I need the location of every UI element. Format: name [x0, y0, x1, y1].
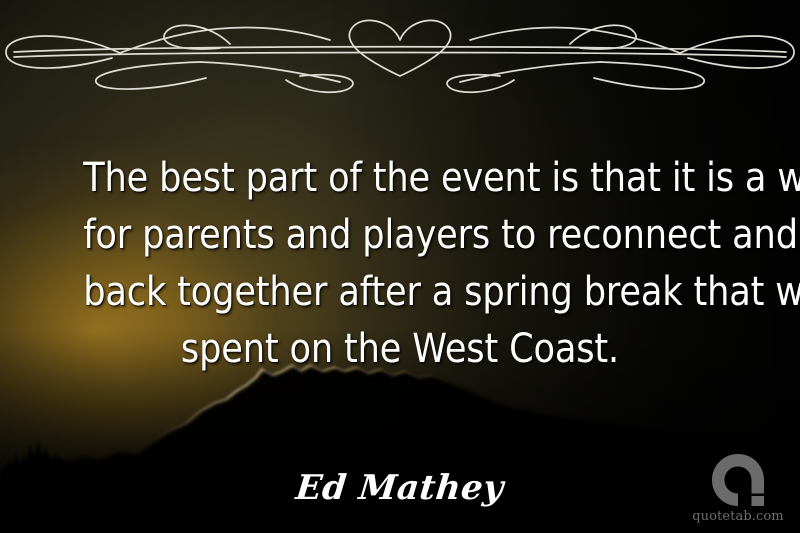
watermark-site-label[interactable]: quotetab.com: [690, 509, 786, 525]
quote-text: The best part of the event is that it is…: [40, 150, 760, 378]
quote-line-3: back together after a spring break that …: [83, 264, 717, 321]
quote-line-2: for parents and players to reconnect and…: [83, 207, 717, 264]
quote-line-1: The best part of the event is that it is…: [83, 150, 717, 207]
author-attribution: Ed Mathey: [0, 468, 800, 508]
author-name: Ed Mathey: [294, 468, 506, 508]
quote-image-card: The best part of the event is that it is…: [0, 0, 800, 533]
quote-line-4: spent on the West Coast.: [83, 321, 717, 378]
quotetab-logo-icon[interactable]: [690, 451, 786, 509]
watermark[interactable]: quotetab.com: [690, 451, 786, 525]
flourish-ornament-icon: [0, 2, 800, 94]
